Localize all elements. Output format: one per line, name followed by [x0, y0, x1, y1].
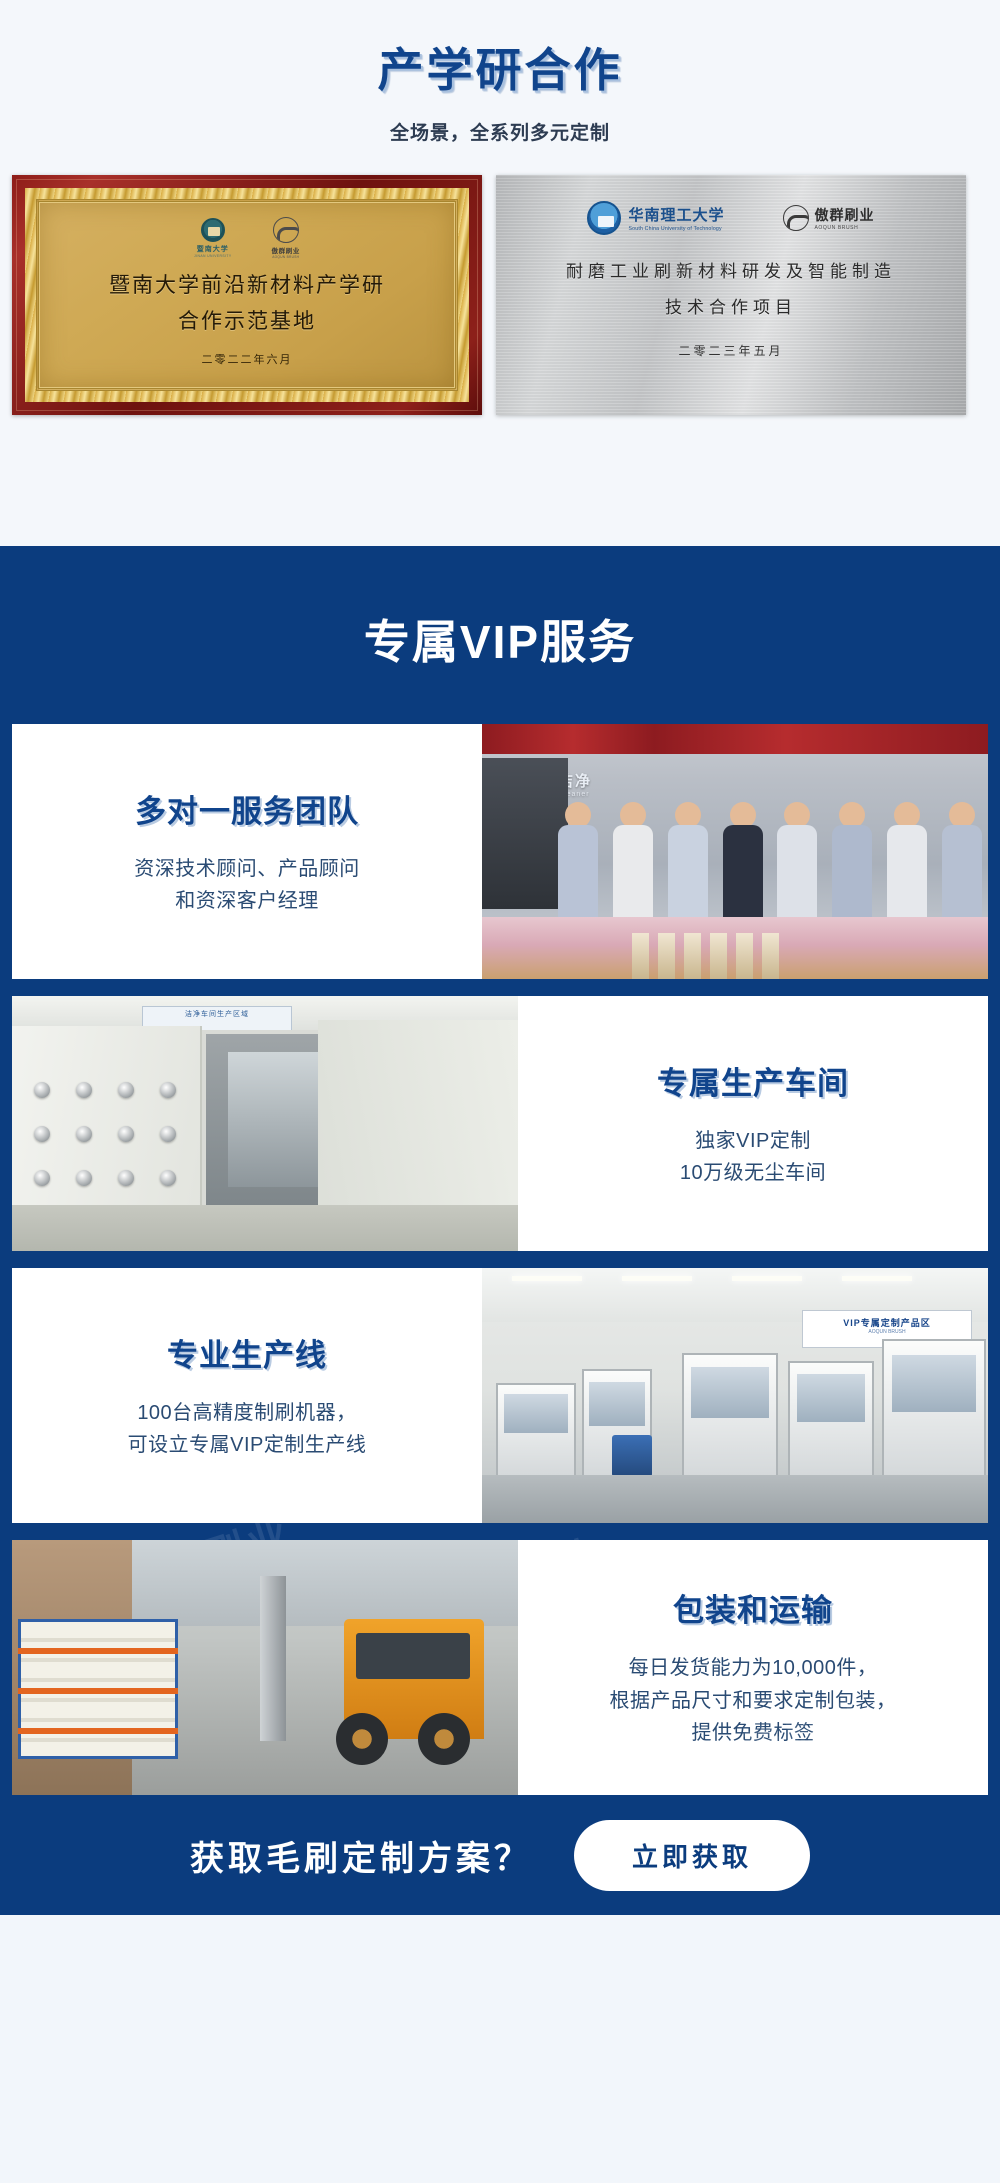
vip-card-photo-forklift [12, 1540, 518, 1795]
plaque-gold-date: 二零二二年六月 [202, 351, 293, 367]
vip-section-title: 专属VIP服务 [0, 546, 1000, 724]
aoqun-logo-icon-steel: 傲群刷业 AOQUN BRUSH [783, 205, 875, 231]
aoqun-mark-icon [273, 217, 299, 243]
vip-card-line: 每日发货能力为10,000件， [610, 1652, 897, 1684]
vip-card-heading: 专属生产车间 [657, 1058, 849, 1103]
plaque-gallery: 暨南大学 JINAN UNIVERSITY 傲群刷业 AOQUN BRUSH 暨… [0, 175, 1000, 415]
vip-card-body: 100台高精度制刷机器， 可设立专属VIP定制生产线 [128, 1397, 367, 1462]
jinan-logo-en: JINAN UNIVERSITY [194, 254, 232, 258]
vip-service-section: 傲群刷业AOQUN BRUSH 傲群刷业AOQUN BRUSH 傲群刷业AOQU… [0, 546, 1000, 1915]
plaque-jinan-university: 暨南大学 JINAN UNIVERSITY 傲群刷业 AOQUN BRUSH 暨… [12, 175, 482, 415]
aoqun-logo-cn-steel: 傲群刷业 [815, 205, 875, 225]
plaque-gold-line1: 暨南大学前沿新材料产学研 [109, 269, 385, 299]
vip-card-team: 多对一服务团队 资深技术顾问、产品顾问 和资深客户经理 让世界更洁净 Make … [12, 724, 988, 979]
vip-card-body: 独家VIP定制 10万级无尘车间 [680, 1125, 826, 1190]
vip-card-line: 提供免费标签 [610, 1717, 897, 1749]
scut-logo-cn: 华南理工大学 [628, 204, 724, 225]
vip-card-photo-cleanroom: 洁净车间生产区域 [12, 996, 518, 1251]
vip-card-text: 多对一服务团队 资深技术顾问、产品顾问 和资深客户经理 [12, 724, 482, 979]
scut-logo-icon: 华南理工大学 South China University of Technol… [587, 201, 724, 235]
jinan-university-logo-icon: 暨南大学 JINAN UNIVERSITY [194, 218, 232, 258]
vip-card-text: 专业生产线 100台高精度制刷机器， 可设立专属VIP定制生产线 [12, 1268, 482, 1523]
vip-card-line: 根据产品尺寸和要求定制包装， [610, 1685, 897, 1717]
plaque-logos: 暨南大学 JINAN UNIVERSITY 傲群刷业 AOQUN BRUSH [194, 216, 300, 260]
vip-card-line: 100台高精度制刷机器， [128, 1397, 367, 1429]
plaque-gold-frame: 暨南大学 JINAN UNIVERSITY 傲群刷业 AOQUN BRUSH 暨… [25, 188, 469, 402]
vip-card-line: 可设立专属VIP定制生产线 [128, 1429, 367, 1461]
get-quote-button[interactable]: 立即获取 [574, 1820, 810, 1891]
cta-question: 获取毛刷定制方案？ [190, 1831, 532, 1880]
aoqun-mark-icon-steel [783, 205, 809, 231]
aoqun-logo-en-steel: AOQUN BRUSH [815, 225, 875, 231]
jinan-seal-icon [201, 218, 225, 242]
plaque-gold-face: 暨南大学 JINAN UNIVERSITY 傲群刷业 AOQUN BRUSH 暨… [36, 199, 458, 391]
aoqun-logo-cn: 傲群刷业 [272, 245, 300, 255]
vip-card-line: 资深技术顾问、产品顾问 [134, 853, 360, 885]
vip-card-packaging: 包装和运输 每日发货能力为10,000件， 根据产品尺寸和要求定制包装， 提供免… [12, 1540, 988, 1795]
jinan-logo-cn: 暨南大学 [197, 244, 229, 254]
vip-card-line: 独家VIP定制 [680, 1125, 826, 1157]
vip-card-photo-production-line: VIP专属定制产品区 AOQUN BRUSH [482, 1268, 988, 1523]
vip-card-body: 每日发货能力为10,000件， 根据产品尺寸和要求定制包装， 提供免费标签 [610, 1652, 897, 1749]
scut-seal-icon [587, 201, 621, 235]
vip-card-body: 资深技术顾问、产品顾问 和资深客户经理 [134, 853, 360, 918]
vip-card-production-line: 专业生产线 100台高精度制刷机器， 可设立专属VIP定制生产线 VIP专属定制… [12, 1268, 988, 1523]
plaque-steel-date: 二零二三年五月 [678, 342, 783, 359]
vip-card-line: 10万级无尘车间 [680, 1157, 826, 1189]
plaque-steel-logos: 华南理工大学 South China University of Technol… [587, 201, 874, 235]
vip-card-line: 和资深客户经理 [134, 885, 360, 917]
vip-card-heading: 包装和运输 [673, 1585, 833, 1630]
plaque-gold-line2: 合作示范基地 [178, 305, 316, 335]
vip-card-text: 包装和运输 每日发货能力为10,000件， 根据产品尺寸和要求定制包装， 提供免… [518, 1540, 988, 1795]
vip-card-photo-team: 让世界更洁净 Make The World Cleaner [482, 724, 988, 979]
page-title: 产学研合作 [0, 0, 1000, 100]
plaque-steel-line2: 技术合作项目 [665, 293, 797, 318]
aoqun-logo-icon: 傲群刷业 AOQUN BRUSH [272, 217, 300, 259]
vip-card-heading: 专业生产线 [167, 1330, 327, 1375]
aoqun-logo-en: AOQUN BRUSH [272, 255, 299, 259]
vip-card-heading: 多对一服务团队 [135, 786, 359, 831]
cta-bar: 获取毛刷定制方案？ 立即获取 [0, 1795, 1000, 1915]
plaque-steel-line1: 耐磨工业刷新材料研发及智能制造 [566, 257, 896, 282]
vip-card-list: 多对一服务团队 资深技术顾问、产品顾问 和资深客户经理 让世界更洁净 Make … [0, 724, 1000, 1795]
cooperation-section: 产学研合作 全场景，全系列多元定制 暨南大学 JINAN UNIVERSITY … [0, 0, 1000, 546]
scut-logo-en: South China University of Technology [628, 226, 724, 232]
vip-card-cleanroom: 洁净车间生产区域 专属生产车间 独家VIP定制 10万级无尘车间 [12, 996, 988, 1251]
page-subtitle: 全场景，全系列多元定制 [0, 118, 1000, 145]
plaque-scut: 华南理工大学 South China University of Technol… [496, 175, 966, 415]
vip-card-text: 专属生产车间 独家VIP定制 10万级无尘车间 [518, 996, 988, 1251]
